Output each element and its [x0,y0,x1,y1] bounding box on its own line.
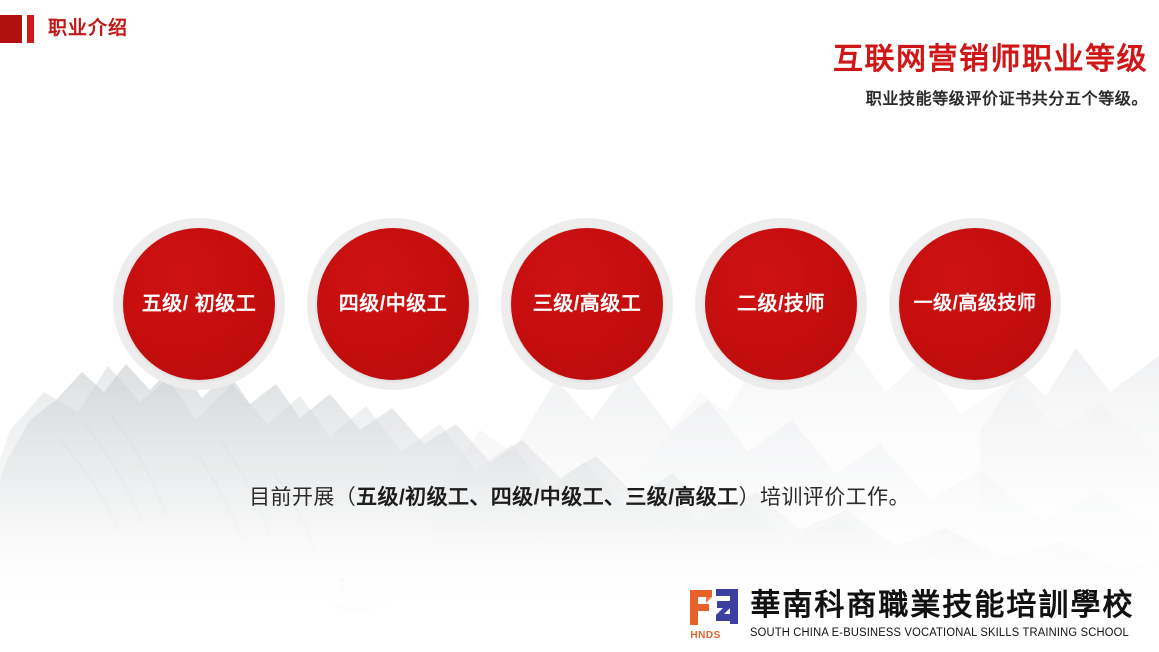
bottom-note-prefix: 目前开展（ [249,486,356,509]
level-circle-4-fill: 二级/技师 [705,228,857,380]
tag-bar-thick-icon [0,15,22,43]
level-circle-5[interactable]: 一级/高级技师 [889,218,1061,390]
page-subtitle: 职业技能等级评价证书共分五个等级。 [833,90,1148,110]
level-circle-3-label: 三级/高级工 [533,292,642,316]
bottom-note-suffix: ）培训评价工作。 [739,486,910,509]
level-circle-5-fill: 一级/高级技师 [899,228,1051,380]
logo-mark-icon: HNDS [686,584,742,640]
level-circle-5-label: 一级/高级技师 [914,292,1037,316]
level-circle-4[interactable]: 二级/技师 [695,218,867,390]
level-circle-3[interactable]: 三级/高级工 [501,218,673,390]
level-circle-2[interactable]: 四级/中级工 [307,218,479,390]
boat-figure-decoration [330,577,388,630]
tag-bar-thin-icon [27,15,34,43]
logo-text-block: 華南科商職業技能培訓學校 SOUTH CHINA E-BUSINESS VOCA… [750,589,1141,640]
level-circle-3-fill: 三级/高级工 [511,228,663,380]
level-circle-4-label: 二级/技师 [737,292,825,316]
school-logo: HNDS 華南科商職業技能培訓學校 SOUTH CHINA E-BUSINESS… [686,584,1141,640]
bottom-note: 目前开展（五级/初级工、四级/中级工、三级/高级工）培训评价工作。 [0,481,1159,511]
level-circle-2-fill: 四级/中级工 [317,228,469,380]
slide-canvas: 职业介绍 互联网营销师职业等级 职业技能等级评价证书共分五个等级。 五级/ 初级… [0,0,1159,652]
page-title: 互联网营销师职业等级 [833,42,1148,78]
level-circle-1-label: 五级/ 初级工 [142,292,257,316]
logo-abbreviation: HNDS [690,630,720,641]
section-tag-label: 职业介绍 [48,15,128,43]
bottom-note-emphasis: 五级/初级工、四级/中级工、三级/高级工 [356,486,739,509]
logo-chinese-name: 華南科商職業技能培訓學校 [750,589,1134,623]
logo-english-name: SOUTH CHINA E-BUSINESS VOCATIONAL SKILLS… [750,626,1129,640]
level-circle-1-fill: 五级/ 初级工 [123,228,275,380]
section-tag: 职业介绍 [0,14,128,44]
level-circle-row: 五级/ 初级工 四级/中级工 三级/高级工 二级/技师 一级/高级技师 [113,218,1061,390]
title-block: 互联网营销师职业等级 职业技能等级评价证书共分五个等级。 [833,42,1148,110]
level-circle-1[interactable]: 五级/ 初级工 [113,218,285,390]
level-circle-2-label: 四级/中级工 [339,292,448,316]
